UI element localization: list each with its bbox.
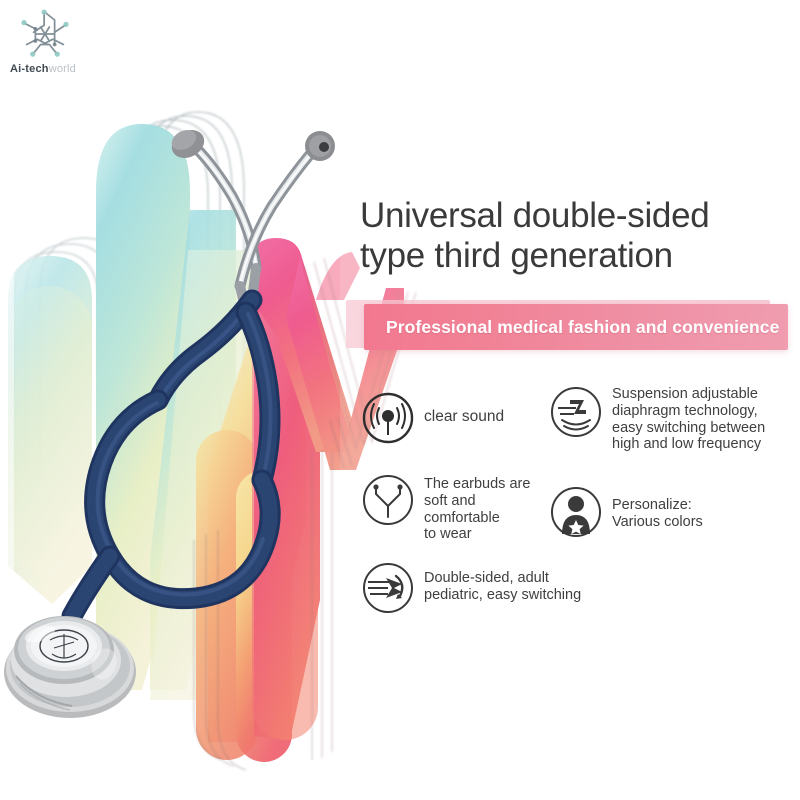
- feature-earbuds: The earbuds are soft and comfortable to …: [362, 474, 530, 543]
- watermark-brand-bold: Ai-tech: [10, 63, 49, 75]
- ai-tech-hexagon-circuit-logo: [14, 6, 76, 62]
- feature-line: soft and: [424, 493, 530, 510]
- feature-line: Double-sided, adult: [424, 570, 581, 587]
- feature-line: Suspension adjustable: [612, 386, 765, 403]
- person-star-icon: [550, 486, 602, 538]
- feature-personalize-text: Personalize: Various colors: [602, 486, 703, 531]
- headline-line-1: Universal double-sided: [360, 196, 709, 235]
- feature-personalize: Personalize: Various colors: [550, 486, 703, 538]
- feature-double-sided-text: Double-sided, adult pediatric, easy swit…: [414, 562, 581, 604]
- feature-line: comfortable: [424, 510, 530, 527]
- watermark: Ai-techworld: [8, 6, 118, 75]
- banner-text: Professional medical fashion and conveni…: [364, 317, 779, 338]
- feature-line: The earbuds are: [424, 476, 530, 493]
- feature-line: easy switching between: [612, 420, 765, 437]
- feature-suspension-text: Suspension adjustable diaphragm technolo…: [602, 386, 765, 453]
- eartip-right: [305, 131, 335, 161]
- headline-line-2: type third generation: [360, 236, 790, 276]
- feature-line: Various colors: [612, 514, 703, 531]
- feature-double-sided: Double-sided, adult pediatric, easy swit…: [362, 562, 581, 614]
- product-marketing-image: Ai-techworld Universal double-sided type…: [0, 0, 800, 800]
- feature-line: diaphragm technology,: [612, 403, 765, 420]
- banner-body: Professional medical fashion and conveni…: [364, 304, 788, 350]
- feature-clear-sound: clear sound: [362, 392, 504, 444]
- feature-earbuds-text: The earbuds are soft and comfortable to …: [414, 474, 530, 543]
- watermark-text: Ai-techworld: [10, 63, 118, 75]
- feature-line: to wear: [424, 526, 530, 543]
- feature-suspension: Suspension adjustable diaphragm technolo…: [550, 386, 765, 453]
- feature-line: pediatric, easy switching: [424, 587, 581, 604]
- diaphragm-suspension-icon: [550, 386, 602, 438]
- feature-line: clear sound: [424, 408, 504, 426]
- feature-clear-sound-text: clear sound: [414, 392, 504, 426]
- tagline-banner: Professional medical fashion and conveni…: [346, 300, 788, 350]
- feature-line: Personalize:: [612, 497, 703, 514]
- watermark-brand-light: world: [49, 63, 76, 75]
- feature-line: high and low frequency: [612, 436, 765, 453]
- headline: Universal double-sided type third genera…: [360, 196, 790, 276]
- earbuds-stethoscope-icon: [362, 474, 414, 526]
- sound-wave-icon: [362, 392, 414, 444]
- double-sided-chestpiece-icon: [362, 562, 414, 614]
